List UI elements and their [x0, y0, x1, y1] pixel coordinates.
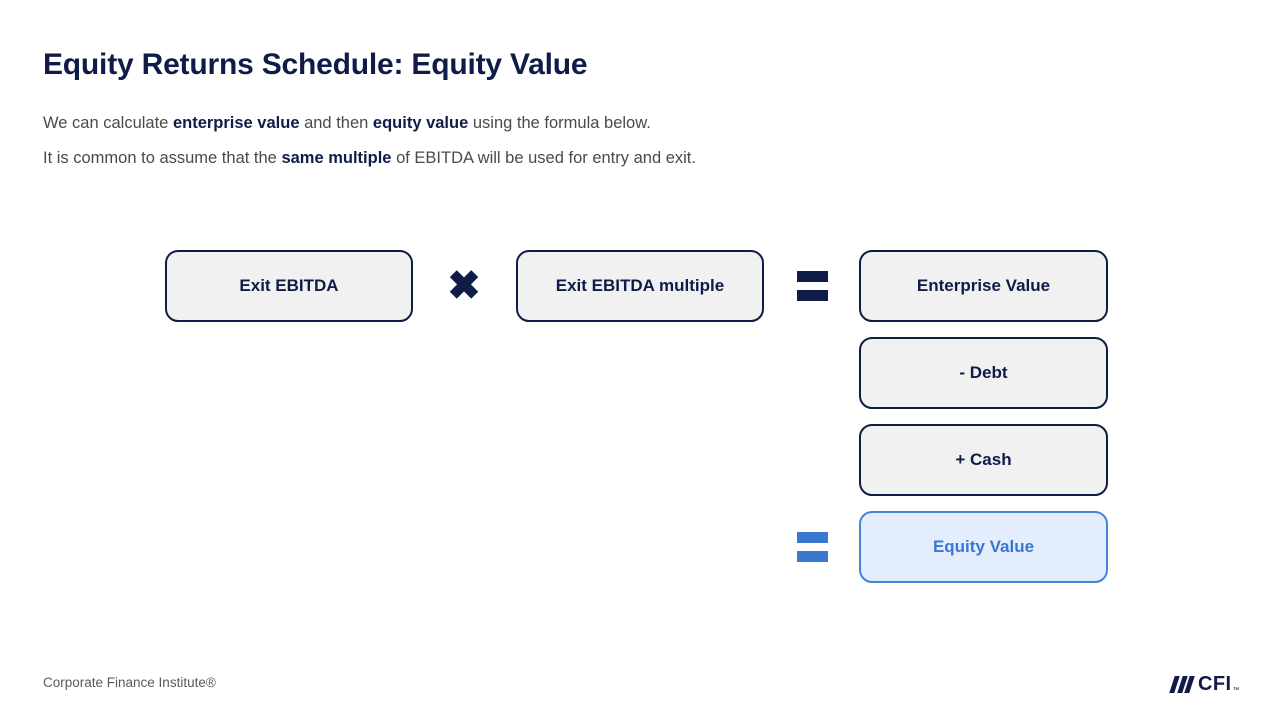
cfi-logo-text: CFI	[1198, 674, 1231, 694]
equals-bar-top	[797, 532, 828, 543]
node-enterprise-value: Enterprise Value	[859, 250, 1108, 322]
footer-credit: Corporate Finance Institute®	[43, 675, 216, 690]
body-text-segment: and then	[300, 114, 373, 132]
trademark-icon: ™	[1232, 687, 1239, 694]
cfi-logo: CFI ™	[1172, 671, 1239, 697]
node-equity-value: Equity Value	[859, 511, 1108, 583]
node-plus-cash: + Cash	[859, 424, 1108, 496]
body-text-bold-enterprise-value: enterprise value	[173, 114, 300, 132]
cfi-logo-mark-icon	[1172, 676, 1192, 693]
body-text-segment: It is common to assume that the	[43, 149, 281, 167]
body-text-segment: We can calculate	[43, 114, 173, 132]
equals-bar-bottom	[797, 551, 828, 562]
node-exit-ebitda-multiple: Exit EBITDA multiple	[516, 250, 764, 322]
node-less-debt: - Debt	[859, 337, 1108, 409]
body-text-bold-same-multiple: same multiple	[281, 149, 391, 167]
body-paragraph-1: We can calculate enterprise value and th…	[43, 114, 651, 133]
body-paragraph-2: It is common to assume that the same mul…	[43, 149, 696, 168]
body-text-bold-equity-value: equity value	[373, 114, 468, 132]
body-text-segment: using the formula below.	[468, 114, 651, 132]
multiply-icon: ✖	[438, 262, 490, 310]
equals-icon-highlight	[786, 523, 838, 571]
page-title: Equity Returns Schedule: Equity Value	[43, 48, 587, 82]
body-text-segment: of EBITDA will be used for entry and exi…	[391, 149, 695, 167]
equals-bar-bottom	[797, 290, 828, 301]
equals-icon	[786, 262, 838, 310]
equals-bar-top	[797, 271, 828, 282]
node-exit-ebitda: Exit EBITDA	[165, 250, 413, 322]
